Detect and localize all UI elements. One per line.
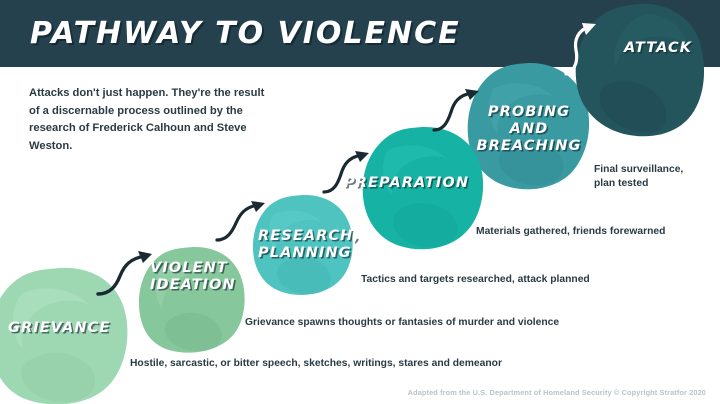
intro-paragraph: Attacks don't just happen. They're the r… — [29, 85, 269, 155]
description-violent-ideation: Grievance spawns thoughts or fantasies o… — [245, 316, 559, 330]
description-grievance: Hostile, sarcastic, or bitter speech, sk… — [130, 357, 502, 371]
description-probing-breaching: Final surveillance, plan tested — [594, 163, 683, 191]
stage-label-attack: ATTACK — [624, 40, 692, 57]
footer-credit: Adapted from the U.S. Department of Home… — [0, 388, 706, 397]
stage-label-preparation: PREPARATION — [344, 175, 469, 192]
description-preparation: Materials gathered, friends forewarned — [476, 225, 665, 239]
stage-label-grievance: GRIEVANCE — [8, 320, 110, 337]
stage-label-research-planning: RESEARCH, PLANNING — [258, 228, 360, 262]
pathway-to-violence-infographic: GRIEVANCE VIOLENT IDEATION RESEARCH, PLA… — [0, 0, 720, 404]
stage-label-violent-ideation: VIOLENT IDEATION — [150, 260, 236, 294]
stage-label-probing-breaching: PROBING AND BREACHING — [466, 104, 592, 155]
arrow-probing-to-attack — [554, 20, 600, 76]
page-title: PATHWAY TO VIOLENCE — [30, 16, 461, 51]
description-research-planning: Tactics and targets researched, attack p… — [361, 273, 590, 287]
